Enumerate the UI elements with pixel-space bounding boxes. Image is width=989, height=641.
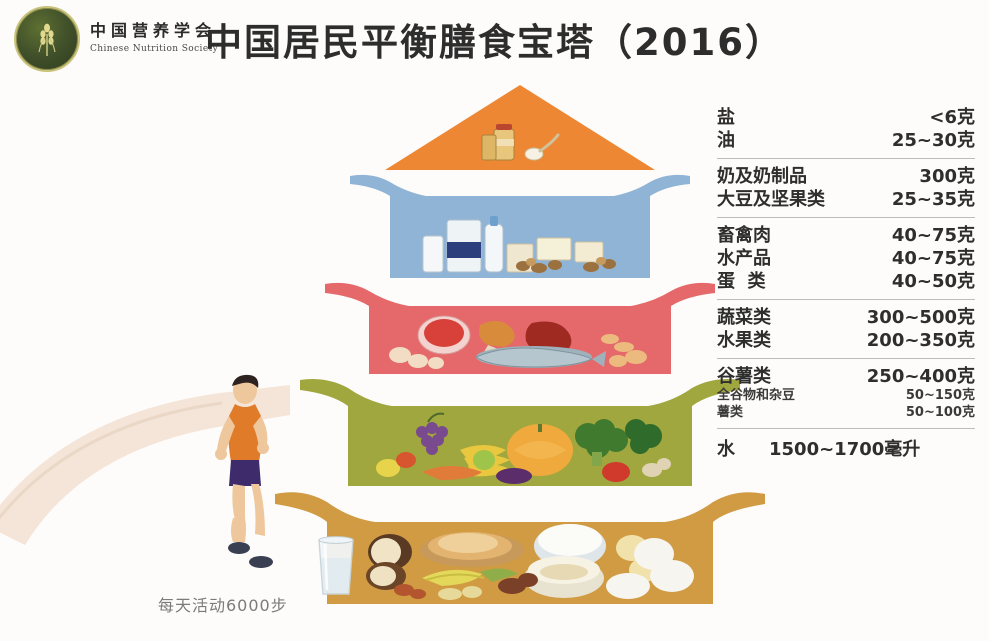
nutrition-item-amount: 50~100克 xyxy=(906,405,975,422)
nutrition-row: 谷薯类250~400克 xyxy=(717,365,975,388)
nutrition-item-name: 全谷物和杂豆 xyxy=(717,388,795,405)
daily-activity-caption: 每天活动6000步 xyxy=(158,592,288,616)
nutrition-item-amount: 250~400克 xyxy=(867,365,975,388)
nutrition-row: 全谷物和杂豆50~150克 xyxy=(717,388,975,405)
nutrition-group-dairy_soy: 奶及奶制品300克大豆及坚果类25~35克 xyxy=(717,158,975,217)
pagoda-tier-veg-fruit[interactable] xyxy=(300,374,740,486)
nutrition-item-name: 水 xyxy=(717,438,735,461)
nutrition-amounts-panel: 盐<6克油25~30克奶及奶制品300克大豆及坚果类25~35克畜禽肉40~75… xyxy=(717,100,975,467)
nutrition-row: 奶及奶制品300克 xyxy=(717,165,975,188)
food-pagoda xyxy=(330,85,710,585)
nutrition-item-name: 水产品 xyxy=(717,247,771,270)
nutrition-item-amount: 40~75克 xyxy=(892,247,975,270)
nutrition-item-amount: 25~30克 xyxy=(892,129,975,152)
nutrition-item-name: 畜禽肉 xyxy=(717,224,771,247)
nutrition-row: 水1500~1700毫升 xyxy=(717,438,975,461)
nutrition-item-amount: 50~150克 xyxy=(906,388,975,405)
nutrition-item-name: 大豆及坚果类 xyxy=(717,188,825,211)
pagoda-tier-dairy-soy[interactable] xyxy=(350,170,690,278)
milk-soy-nuts-icon xyxy=(405,212,635,274)
nutrition-row: 水产品40~75克 xyxy=(717,247,975,270)
nutrition-item-name: 油 xyxy=(717,129,735,152)
nutrition-group-water: 水1500~1700毫升 xyxy=(717,428,975,467)
page-title: 中国居民平衡膳食宝塔（2016） xyxy=(0,12,989,66)
nutrition-group-grain: 谷薯类250~400克全谷物和杂豆50~150克薯类50~100克 xyxy=(717,358,975,427)
infographic-canvas: 中国营养学会 Chinese Nutrition Society 中国居民平衡膳… xyxy=(0,0,989,641)
grain-potato-icon xyxy=(342,520,698,600)
running-person-icon xyxy=(205,370,285,570)
nutrition-item-amount: 300~500克 xyxy=(867,306,975,329)
nutrition-item-name: 奶及奶制品 xyxy=(717,165,807,188)
nutrition-group-veg_fruit: 蔬菜类300~500克水果类200~350克 xyxy=(717,299,975,358)
nutrition-row: 畜禽肉40~75克 xyxy=(717,224,975,247)
pagoda-tier-oil-salt[interactable] xyxy=(330,85,710,170)
water-glass-icon xyxy=(313,536,359,598)
nutrition-row: 大豆及坚果类25~35克 xyxy=(717,188,975,211)
nutrition-item-amount: 1500~1700毫升 xyxy=(769,438,920,461)
nutrition-item-amount: <6克 xyxy=(929,106,975,129)
nutrition-row: 水果类200~350克 xyxy=(717,329,975,352)
nutrition-row: 盐<6克 xyxy=(717,106,975,129)
nutrition-item-name: 蔬菜类 xyxy=(717,306,771,329)
meat-fish-egg-icon xyxy=(384,311,656,371)
nutrition-row: 油25~30克 xyxy=(717,129,975,152)
nutrition-group-oil_salt: 盐<6克油25~30克 xyxy=(717,100,975,158)
nutrition-group-meat: 畜禽肉40~75克水产品40~75克蛋 类40~50克 xyxy=(717,217,975,299)
nutrition-item-name: 水果类 xyxy=(717,329,771,352)
vegetables-fruit-icon xyxy=(364,410,676,484)
nutrition-item-name: 蛋 类 xyxy=(717,270,766,293)
nutrition-item-amount: 40~75克 xyxy=(892,224,975,247)
nutrition-item-name: 盐 xyxy=(717,106,735,129)
pagoda-tier-meat[interactable] xyxy=(325,278,715,374)
nutrition-item-name: 谷薯类 xyxy=(717,365,771,388)
nutrition-row: 蛋 类40~50克 xyxy=(717,270,975,293)
nutrition-item-amount: 25~35克 xyxy=(892,188,975,211)
oil-bottle-salt-spoon-icon xyxy=(472,121,568,165)
nutrition-item-name: 薯类 xyxy=(717,405,743,422)
nutrition-item-amount: 40~50克 xyxy=(892,270,975,293)
nutrition-item-amount: 200~350克 xyxy=(867,329,975,352)
nutrition-row: 蔬菜类300~500克 xyxy=(717,306,975,329)
nutrition-item-amount: 300克 xyxy=(919,165,975,188)
nutrition-row: 薯类50~100克 xyxy=(717,405,975,422)
